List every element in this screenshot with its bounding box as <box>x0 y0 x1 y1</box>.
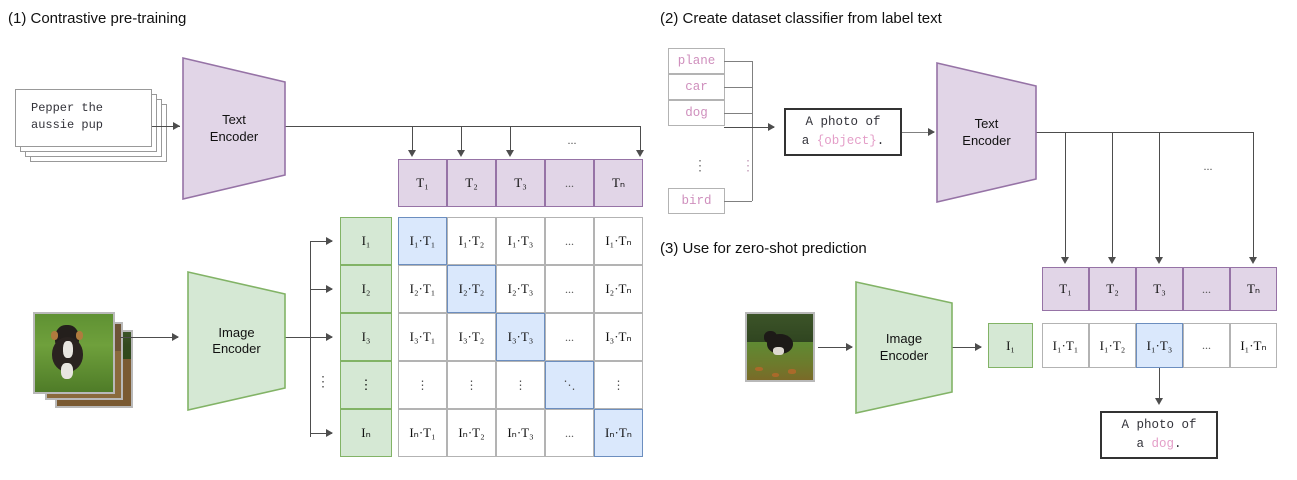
text-drop-arrow-2c <box>1155 257 1163 264</box>
caption-to-text-encoder-arrow <box>173 122 180 130</box>
matrix-cell-r3-c5: I₃·Tₙ <box>594 313 643 361</box>
prompt-suffix: . <box>877 134 885 148</box>
text-drop-arrow-1d <box>636 150 644 157</box>
label-list-ellipsis: ⋮ <box>693 160 707 174</box>
i-cell-1: I₁ <box>340 217 392 265</box>
prompt-prefix: A photo of <box>805 115 880 129</box>
text-encoder-2-line2: Encoder <box>962 133 1010 149</box>
result-article: a <box>1136 437 1151 451</box>
image-encoder-1-line2: Encoder <box>212 341 260 357</box>
t-cell-2-4: ... <box>1183 267 1230 311</box>
query-image-embedding: I₁ <box>988 323 1033 368</box>
image-encoder-2-line1: Image <box>880 331 928 347</box>
matrix-cell-r1-c3: I₁·T₃ <box>496 217 545 265</box>
text-drop-arrow-2d <box>1249 257 1257 264</box>
i-cell-5: Iₙ <box>340 409 392 457</box>
matrix-cell-r1-c4: ... <box>545 217 594 265</box>
i-cell-3: I₃ <box>340 313 392 361</box>
t-cell-2-2: T₂ <box>1089 267 1136 311</box>
label-box-bird[interactable]: bird <box>668 188 725 214</box>
matrix-cell-r4-c3: ⋮ <box>496 361 545 409</box>
matrix-cell-r4-c4: ⋱ <box>545 361 594 409</box>
result-suffix: . <box>1174 437 1182 451</box>
t-cell-2-5: Tₙ <box>1230 267 1277 311</box>
matrix-cell-r5-c2: Iₙ·T₂ <box>447 409 496 457</box>
text-drop-arrow-2a <box>1061 257 1069 264</box>
panel-title-2: (2) Create dataset classifier from label… <box>660 10 942 27</box>
matrix-cell-r2-c2: I₂·T₂ <box>447 265 496 313</box>
similarity-matrix: I₁·T₁I₁·T₂I₁·T₃...I₁·TₙI₂·T₁I₂·T₂I₂·T₃..… <box>398 217 643 457</box>
matrix-cell-r5-c3: Iₙ·T₃ <box>496 409 545 457</box>
text-bus-ellipsis-1: ... <box>548 132 596 148</box>
text-bus-2 <box>1035 132 1253 133</box>
matrix-cell-r4-c5: ⋮ <box>594 361 643 409</box>
label-box-car[interactable]: car <box>668 74 725 100</box>
label-wire-plane <box>724 61 752 62</box>
query-photo-to-encoder-arrow <box>846 343 853 351</box>
score-to-result-line <box>1159 368 1160 401</box>
matrix-cell-r1-c1: I₁·T₁ <box>398 217 447 265</box>
score-cell-5: I₁·Tₙ <box>1230 323 1277 368</box>
image-encoder-1-line1: Image <box>212 325 260 341</box>
label-wire-bird <box>724 201 752 202</box>
matrix-cell-r1-c5: I₁·Tₙ <box>594 217 643 265</box>
label-wire-dog <box>724 113 752 114</box>
image-encoder-2-out-arrow <box>975 343 982 351</box>
i-cell-2: I₂ <box>340 265 392 313</box>
t-cell-2-3: T₃ <box>1136 267 1183 311</box>
result-prefix: A photo of <box>1121 418 1196 432</box>
text-encoder-2: Text Encoder <box>936 62 1037 203</box>
image-fan-arrow-5 <box>326 429 333 437</box>
text-drop-2d <box>1253 132 1254 258</box>
matrix-cell-r2-c5: I₂·Tₙ <box>594 265 643 313</box>
panel-title-1: (1) Contrastive pre-training <box>8 10 186 27</box>
text-drop-1a <box>412 126 413 151</box>
label-bus-to-prompt <box>724 127 774 128</box>
query-photo <box>745 312 815 382</box>
panel-title-3: (3) Use for zero-shot prediction <box>660 240 867 257</box>
matrix-cell-r1-c2: I₁·T₂ <box>447 217 496 265</box>
image-encoder-1: Image Encoder <box>187 271 286 411</box>
clip-figure: (1) Contrastive pre-training Pepper the … <box>0 0 1297 480</box>
matrix-cell-r5-c1: Iₙ·T₁ <box>398 409 447 457</box>
t-cell-2-1: T₁ <box>1042 267 1089 311</box>
t-cell-1-4: ... <box>545 159 594 207</box>
t-cell-1-1: T₁ <box>398 159 447 207</box>
t-cell-1-3: T₃ <box>496 159 545 207</box>
image-fan-arrow-1 <box>326 237 333 245</box>
prediction-result-box: A photo of a dog. <box>1100 411 1218 459</box>
text-drop-1c <box>510 126 511 151</box>
text-drop-2b <box>1112 132 1113 258</box>
text-bus-1 <box>284 126 641 127</box>
caption-card-text: Pepper the aussie pup <box>31 100 151 135</box>
text-drop-arrow-2b <box>1108 257 1116 264</box>
score-cell-2: I₁·T₂ <box>1089 323 1136 368</box>
score-to-result-arrow <box>1155 398 1163 405</box>
matrix-cell-r4-c1: ⋮ <box>398 361 447 409</box>
image-fan-ellipsis: ⋮ <box>316 376 330 390</box>
matrix-cell-r5-c5: Iₙ·Tₙ <box>594 409 643 457</box>
label-wire-car <box>724 87 752 88</box>
image-encoder-2: Image Encoder <box>855 281 953 414</box>
matrix-cell-r3-c2: I₃·T₂ <box>447 313 496 361</box>
image-encoder-2-line2: Encoder <box>880 348 928 364</box>
text-drop-arrow-1b <box>457 150 465 157</box>
score-cell-4: ... <box>1183 323 1230 368</box>
image-fan-arrow-3 <box>326 333 333 341</box>
text-drop-2c <box>1159 132 1160 258</box>
prompt-slot: {object} <box>817 134 877 148</box>
prompt-template-box: A photo of a {object}. <box>784 108 902 156</box>
text-drop-1b <box>461 126 462 151</box>
prompt-article: a <box>802 134 817 148</box>
image-bus-riser <box>310 241 311 437</box>
matrix-cell-r3-c4: ... <box>545 313 594 361</box>
text-bus-ellipsis-2: ... <box>1186 158 1230 174</box>
label-wire-bus <box>752 61 753 201</box>
score-cell-3: I₁·T₃ <box>1136 323 1183 368</box>
i-cell-4: ⋮ <box>340 361 392 409</box>
result-slot: dog <box>1151 437 1174 451</box>
text-drop-arrow-1c <box>506 150 514 157</box>
text-drop-arrow-1a <box>408 150 416 157</box>
label-box-plane[interactable]: plane <box>668 48 725 74</box>
matrix-cell-r2-c3: I₂·T₃ <box>496 265 545 313</box>
label-bus-to-prompt-arrow <box>768 123 775 131</box>
text-drop-1d <box>640 126 641 151</box>
matrix-cell-r2-c1: I₂·T₁ <box>398 265 447 313</box>
matrix-cell-r5-c4: ... <box>545 409 594 457</box>
t-cell-1-5: Tₙ <box>594 159 643 207</box>
matrix-cell-r2-c4: ... <box>545 265 594 313</box>
score-cell-1: I₁·T₁ <box>1042 323 1089 368</box>
image-fan-arrow-2 <box>326 285 333 293</box>
text-encoder-1-line2: Encoder <box>210 129 258 145</box>
photo-to-image-encoder-line <box>120 337 178 338</box>
text-drop-2a <box>1065 132 1066 258</box>
text-encoder-1: Text Encoder <box>182 57 286 200</box>
label-box-dog[interactable]: dog <box>668 100 725 126</box>
text-encoder-1-line1: Text <box>210 112 258 128</box>
text-encoder-2-line1: Text <box>962 116 1010 132</box>
training-photo-front <box>33 312 115 394</box>
matrix-cell-r3-c1: I₃·T₁ <box>398 313 447 361</box>
photo-to-image-encoder-arrow <box>172 333 179 341</box>
matrix-cell-r3-c3: I₃·T₃ <box>496 313 545 361</box>
t-cell-1-2: T₂ <box>447 159 496 207</box>
matrix-cell-r4-c2: ⋮ <box>447 361 496 409</box>
prompt-to-text-encoder-arrow <box>928 128 935 136</box>
image-bus-1 <box>284 337 310 338</box>
